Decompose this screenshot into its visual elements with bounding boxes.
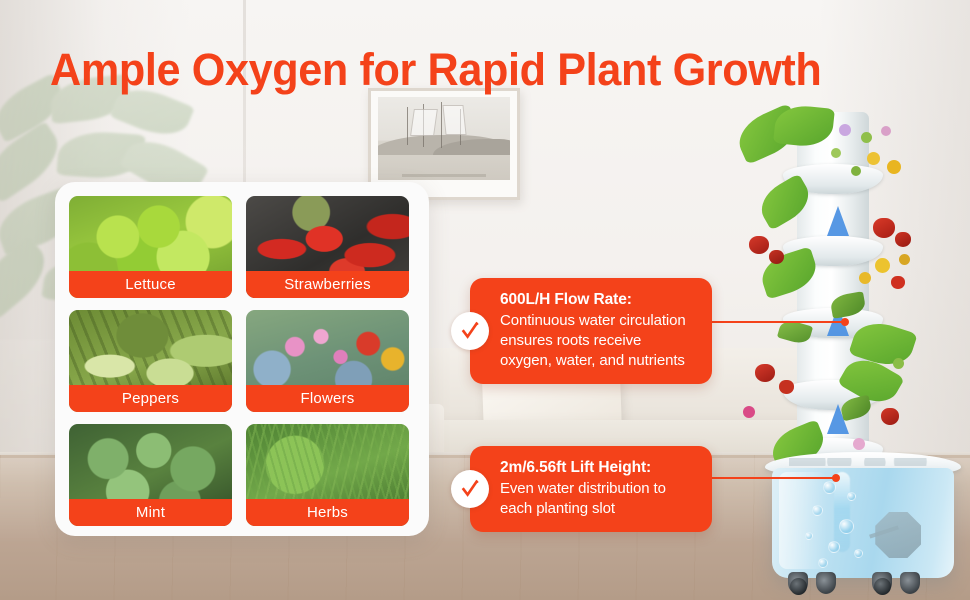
water-bubble (805, 532, 813, 540)
tower-flower (867, 152, 880, 165)
plant-tile-label: Flowers (246, 385, 409, 412)
callout-lift-height: 2m/6.56ft Lift Height: Even water distri… (470, 446, 712, 532)
plant-tile-label: Peppers (69, 385, 232, 412)
callout-leader-line (706, 321, 848, 323)
plant-tile-herbs[interactable]: Herbs (246, 424, 409, 526)
water-bubble (839, 519, 854, 534)
compatible-plants-panel: Lettuce Strawberries Peppers Flowers Min… (55, 182, 429, 536)
plant-tile-peppers[interactable]: Peppers (69, 310, 232, 412)
water-pump-icon (875, 512, 921, 558)
water-reservoir-base (772, 468, 954, 578)
callout-content: 600L/H Flow Rate: Continuous water circu… (470, 278, 712, 384)
tower-flower (875, 258, 890, 273)
artwork-caption-line (402, 174, 486, 177)
tower-strawberry (749, 236, 769, 254)
tower-flower (899, 254, 910, 265)
upward-water-flow-arrow (827, 206, 849, 236)
plant-tile-lettuce[interactable]: Lettuce (69, 196, 232, 298)
tower-flower (887, 160, 901, 174)
callout-leader-line (706, 477, 839, 479)
plant-tile-grid: Lettuce Strawberries Peppers Flowers Min… (69, 196, 409, 526)
callout-title: 2m/6.56ft Lift Height: (500, 458, 696, 478)
callout-content: 2m/6.56ft Lift Height: Even water distri… (470, 446, 712, 532)
hydroponic-growing-tower (735, 108, 935, 478)
artwork-mast (407, 107, 408, 145)
caster-wheel-icon (900, 572, 920, 594)
tower-flower (881, 126, 891, 136)
water-bubble (828, 541, 840, 553)
reservoir-highlight (779, 472, 826, 569)
tower-strawberry (881, 408, 899, 425)
plant-tile-label: Mint (69, 499, 232, 526)
callout-body: Continuous water circulation ensures roo… (500, 311, 696, 371)
tower-flower (831, 148, 841, 158)
artwork-sail (410, 109, 437, 136)
tower-flower (859, 272, 871, 284)
lid-planting-holes (789, 458, 938, 466)
plant-tile-flowers[interactable]: Flowers (246, 310, 409, 412)
check-mark-icon (451, 470, 489, 508)
callout-title: 600L/H Flow Rate: (500, 290, 696, 310)
tower-flower (853, 438, 865, 450)
tower-flower (861, 132, 872, 143)
product-marketing-image: Ample Oxygen for Rapid Plant Growth (0, 0, 970, 600)
plant-tile-strawberries[interactable]: Strawberries (246, 196, 409, 298)
tower-flower (851, 166, 861, 176)
water-stream-graphic (834, 472, 850, 551)
check-mark-icon (451, 312, 489, 350)
artwork-canvas (378, 97, 510, 180)
tower-strawberry (769, 250, 784, 264)
tower-flower (743, 406, 755, 418)
water-bubble (818, 558, 828, 568)
callout-leader-endpoint (832, 474, 840, 482)
tower-strawberry (895, 232, 911, 247)
plant-tile-label: Herbs (246, 499, 409, 526)
callout-body: Even water distribution to each planting… (500, 479, 696, 519)
caster-wheel-icon (816, 572, 836, 594)
water-bubble (854, 549, 863, 558)
callout-leader-endpoint (841, 318, 849, 326)
tower-flower (839, 124, 851, 136)
water-bubble (847, 492, 856, 501)
artwork-sail (442, 105, 466, 135)
plant-tile-label: Lettuce (69, 271, 232, 298)
plant-tile-label: Strawberries (246, 271, 409, 298)
tower-strawberry (891, 276, 905, 289)
tower-strawberry (755, 364, 775, 382)
caster-wheel-icon (874, 578, 891, 595)
page-title: Ample Oxygen for Rapid Plant Growth (50, 45, 895, 95)
callout-flow-rate: 600L/H Flow Rate: Continuous water circu… (470, 278, 712, 384)
tower-flower (893, 358, 904, 369)
tower-strawberry (779, 380, 794, 394)
tower-strawberry (873, 218, 895, 238)
plant-tile-mint[interactable]: Mint (69, 424, 232, 526)
caster-wheel-icon (790, 578, 807, 595)
